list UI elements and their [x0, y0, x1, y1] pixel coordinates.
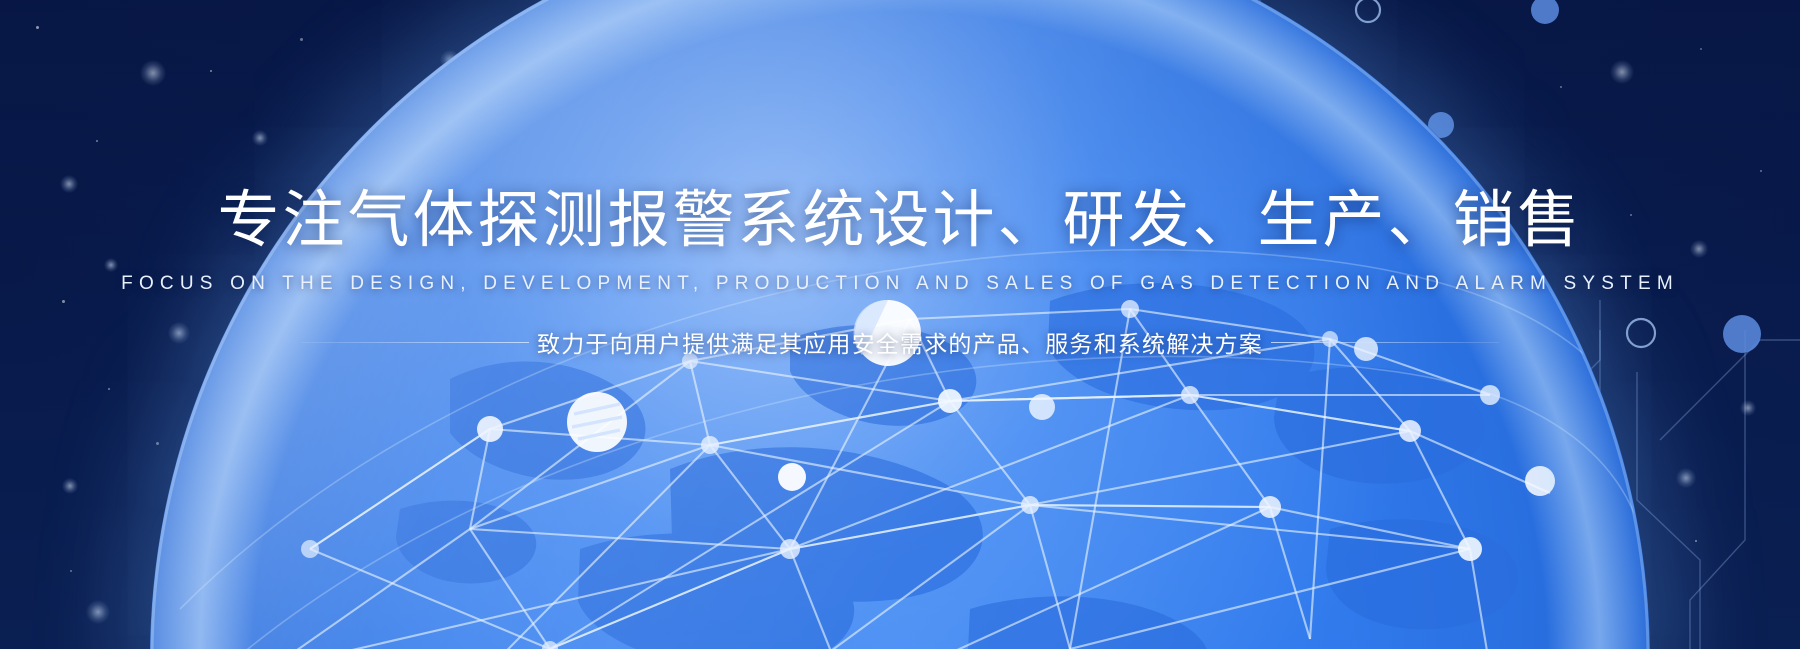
page-title: 专注气体探测报警系统设计、研发、生产、销售 — [0, 0, 1800, 255]
tagline-row: 致力于向用户提供满足其应用安全需求的产品、服务和系统解决方案 — [0, 325, 1800, 359]
tagline-text: 致力于向用户提供满足其应用安全需求的产品、服务和系统解决方案 — [529, 325, 1271, 359]
hero-banner: 专注气体探测报警系统设计、研发、生产、销售 FOCUS ON THE DESIG… — [0, 0, 1800, 649]
tagline-rule-left — [301, 342, 529, 343]
tagline-rule-right — [1271, 342, 1499, 343]
page-subtitle-english: FOCUS ON THE DESIGN, DEVELOPMENT, PRODUC… — [0, 273, 1800, 295]
hero-text-block: 专注气体探测报警系统设计、研发、生产、销售 FOCUS ON THE DESIG… — [0, 0, 1800, 359]
